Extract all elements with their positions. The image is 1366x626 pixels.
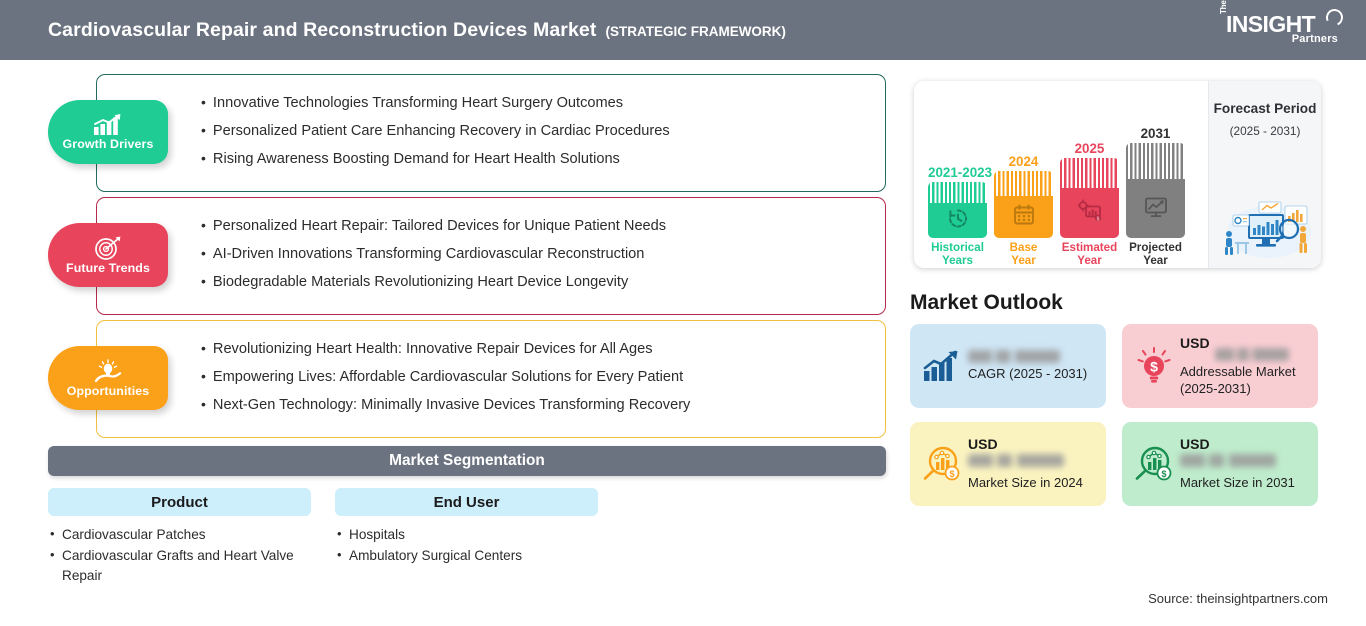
card-value-row: lorem ipsum <box>1180 454 1308 472</box>
card-value-blurred: lorem ipsum <box>1215 348 1289 361</box>
list-item: Ambulatory Surgical Centers <box>335 546 598 567</box>
forecast-title: Forecast Period <box>1209 101 1321 118</box>
card-currency: USD <box>1180 436 1210 452</box>
list-item: Hospitals <box>335 525 598 546</box>
badge-growth-drivers[interactable]: Growth Drivers <box>48 100 168 164</box>
list-item: Cardiovascular Grafts and Heart Valve Re… <box>48 546 311 587</box>
growth-drivers-card: •Innovative Technologies Transforming He… <box>96 74 886 192</box>
bullet-dot: • <box>201 150 206 166</box>
bar-year-label: 2031 <box>1126 126 1185 141</box>
card-label: CAGR (2025 - 2031) <box>968 366 1096 382</box>
segment-heading: End User <box>335 488 598 516</box>
card-currency: USD <box>968 436 998 452</box>
bar-solid-body <box>994 196 1053 238</box>
bar-solid-body <box>1126 179 1185 238</box>
lightbulb-hand-icon <box>92 359 124 383</box>
card-label: Market Size in 2031 <box>1180 475 1308 491</box>
segmentation-column-product: Product Cardiovascular Patches Cardiovas… <box>48 488 311 587</box>
bar-shape <box>1126 143 1185 238</box>
infographic-page: Cardiovascular Repair and Reconstruction… <box>0 0 1366 626</box>
bullet-dot: • <box>201 396 206 412</box>
bullet-text: Next-Gen Technology: Minimally Invasive … <box>213 397 690 413</box>
card-label: Addressable Market (2025-2031) <box>1180 364 1308 396</box>
bullet-item: •Empowering Lives: Affordable Cardiovasc… <box>201 363 885 391</box>
card-value-row: lorem ipsum <box>968 454 1096 472</box>
bullet-item: •Innovative Technologies Transforming He… <box>201 89 885 117</box>
card-value-line: USD lorem ipsum <box>1180 335 1308 361</box>
bar-category-label: EstimatedYear <box>1054 241 1125 268</box>
dollar-bulb-icon: $ <box>1132 347 1176 385</box>
business-analytics-illustration <box>1215 198 1316 260</box>
segment-heading: Product <box>48 488 311 516</box>
card-cagr[interactable]: lorem ipsum CAGR (2025 - 2031) <box>910 324 1106 408</box>
page-header: Cardiovascular Repair and Reconstruction… <box>0 0 1366 60</box>
left-column: •Innovative Technologies Transforming He… <box>0 60 900 626</box>
svg-text:$: $ <box>1096 217 1099 222</box>
page-subtitle: (STRATEGIC FRAMEWORK) <box>605 24 785 39</box>
forecast-period-panel: 2021-2023HistoricalYears2024BaseYear2025… <box>914 81 1321 268</box>
bar-solid-body <box>928 203 987 238</box>
bullet-text: Innovative Technologies Transforming Hea… <box>213 95 623 111</box>
page-title: Cardiovascular Repair and Reconstruction… <box>48 19 596 42</box>
card-value-line: USD <box>1180 436 1308 452</box>
bar-year-label: 2025 <box>1060 141 1119 156</box>
card-market-size-2031[interactable]: $ USD lorem ipsum Market Size in 2031 <box>1122 422 1318 506</box>
bar-category-label: BaseYear <box>988 241 1059 268</box>
bullet-dot: • <box>201 94 206 110</box>
segment-list: Hospitals Ambulatory Surgical Centers <box>335 525 598 566</box>
card-value-blurred: lorem ipsum <box>968 350 1060 363</box>
svg-text:$: $ <box>949 469 954 479</box>
bar-hatch-top <box>928 182 987 203</box>
card-market-size-2024[interactable]: $ USD lorem ipsum Market Size in 2024 <box>910 422 1106 506</box>
bar-shape <box>994 171 1053 238</box>
forecast-period-box: Forecast Period (2025 - 2031) <box>1208 81 1321 268</box>
badge-opportunities[interactable]: Opportunities <box>48 346 168 410</box>
badge-label: Future Trends <box>66 261 150 275</box>
card-text: USD lorem ipsum Market Size in 2031 <box>1176 436 1308 491</box>
bullet-text: Empowering Lives: Affordable Cardiovascu… <box>213 369 683 385</box>
forecast-bar: 2024BaseYear <box>994 81 1053 268</box>
forecast-range: (2025 - 2031) <box>1209 124 1321 138</box>
source-note: Source: theinsightpartners.com <box>1148 591 1328 606</box>
bullet-dot: • <box>201 217 206 233</box>
segmentation-column-end-user: End User Hospitals Ambulatory Surgical C… <box>335 488 598 566</box>
badge-future-trends[interactable]: Future Trends <box>48 223 168 287</box>
forecast-bar-chart: 2021-2023HistoricalYears2024BaseYear2025… <box>928 81 1188 268</box>
card-text: USD lorem ipsum Addressable Market (2025… <box>1176 335 1308 396</box>
bullet-dot: • <box>201 368 206 384</box>
bullet-dot: • <box>201 340 206 356</box>
bullet-dot: • <box>201 122 206 138</box>
target-dart-icon <box>94 236 122 260</box>
badge-label: Growth Drivers <box>63 137 154 151</box>
forecast-bar: 2021-2023HistoricalYears <box>928 81 987 268</box>
bullet-text: Revolutionizing Heart Health: Innovative… <box>213 341 653 357</box>
bar-shape: $ <box>1060 158 1119 238</box>
bullet-item: •AI-Driven Innovations Transforming Card… <box>201 240 885 268</box>
bar-hatch-top <box>1060 158 1119 188</box>
bar-category-label: ProjectedYear <box>1120 241 1191 268</box>
bullet-item: •Rising Awareness Boosting Demand for He… <box>201 145 885 173</box>
bullet-text: Personalized Patient Care Enhancing Reco… <box>213 123 670 139</box>
card-value-line: USD <box>968 436 1096 452</box>
market-segmentation-title: Market Segmentation <box>48 446 886 476</box>
bullet-item: •Next-Gen Technology: Minimally Invasive… <box>201 391 885 419</box>
bullet-item: •Personalized Patient Care Enhancing Rec… <box>201 117 885 145</box>
bar-shape <box>928 182 987 238</box>
magnifier-chart-green-icon: $ <box>1132 445 1176 483</box>
bullet-item: •Personalized Heart Repair: Tailored Dev… <box>201 212 885 240</box>
bullet-item: •Revolutionizing Heart Health: Innovativ… <box>201 335 885 363</box>
market-outlook-title: Market Outlook <box>910 291 1063 315</box>
bullet-dot: • <box>201 245 206 261</box>
bar-category-label: HistoricalYears <box>922 241 993 268</box>
svg-text:$: $ <box>1161 469 1166 479</box>
card-currency: USD <box>1180 335 1210 351</box>
bar-solid-body: $ <box>1060 188 1119 238</box>
bar-year-label: 2021-2023 <box>928 165 987 180</box>
segment-list: Cardiovascular Patches Cardiovascular Gr… <box>48 525 311 587</box>
svg-text:$: $ <box>1150 359 1158 375</box>
logo-partners-text: Partners <box>1292 33 1338 45</box>
history-clock-icon <box>947 207 969 234</box>
growth-bar-chart-icon <box>920 350 964 382</box>
bullet-text: Rising Awareness Boosting Demand for Hea… <box>213 151 620 167</box>
bar-year-label: 2024 <box>994 154 1053 169</box>
bullet-dot: • <box>201 273 206 289</box>
card-addressable-market[interactable]: $ USD lorem ipsum Addressable Market (20… <box>1122 324 1318 408</box>
bullet-text: Personalized Heart Repair: Tailored Devi… <box>213 218 666 234</box>
bar-chart-up-icon <box>93 114 123 136</box>
future-trends-card: •Personalized Heart Repair: Tailored Dev… <box>96 197 886 315</box>
bullet-text: Biodegradable Materials Revolutionizing … <box>213 274 628 290</box>
list-item: Cardiovascular Patches <box>48 525 311 546</box>
market-segmentation-label: Market Segmentation <box>389 452 545 470</box>
card-text: lorem ipsum CAGR (2025 - 2031) <box>964 350 1096 382</box>
right-column: 2021-2023HistoricalYears2024BaseYear2025… <box>900 60 1366 626</box>
calendar-icon <box>1013 204 1035 231</box>
card-value-blurred: lorem ipsum <box>968 454 1064 467</box>
projection-screen-icon <box>1144 195 1168 222</box>
card-label: Market Size in 2024 <box>968 475 1096 491</box>
opportunities-card: •Revolutionizing Heart Health: Innovativ… <box>96 320 886 438</box>
bullet-text: AI-Driven Innovations Transforming Cardi… <box>213 246 645 262</box>
bullet-item: •Biodegradable Materials Revolutionizing… <box>201 268 885 296</box>
badge-label: Opportunities <box>67 384 150 398</box>
insight-partners-logo: The INSIGHT Partners <box>1214 8 1344 52</box>
card-value-line: lorem ipsum <box>968 350 1096 363</box>
forecast-bar: 2025$EstimatedYear <box>1060 81 1119 268</box>
card-text: USD lorem ipsum Market Size in 2024 <box>964 436 1096 491</box>
card-value-blurred: lorem ipsum <box>1180 454 1276 467</box>
estimate-chart-icon: $ <box>1078 200 1102 227</box>
bar-hatch-top <box>994 171 1053 196</box>
bar-hatch-top <box>1126 143 1185 179</box>
magnifier-chart-orange-icon: $ <box>920 445 964 483</box>
logo-loop-icon <box>1324 7 1346 29</box>
forecast-bar: 2031ProjectedYear <box>1126 81 1185 268</box>
